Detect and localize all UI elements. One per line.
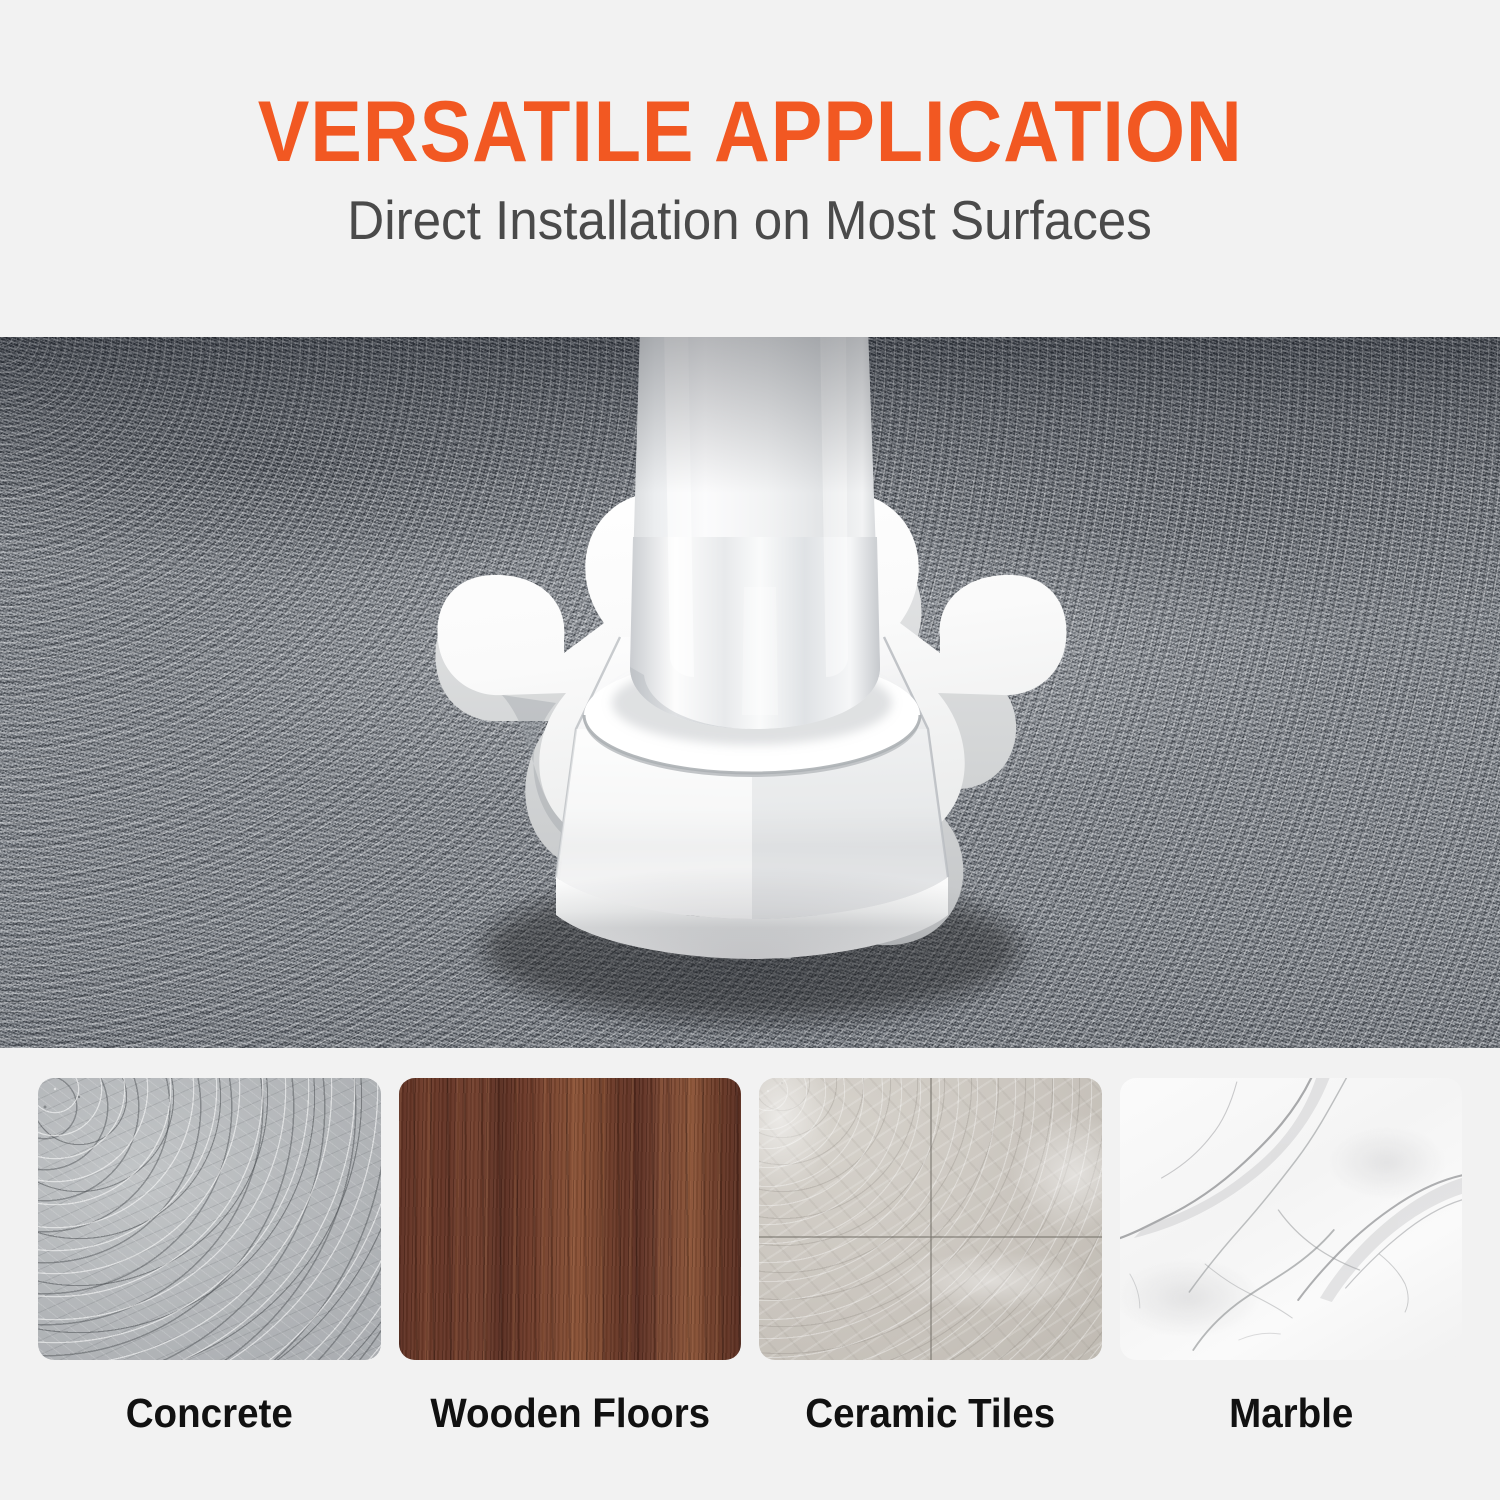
marble-veining	[1120, 1078, 1463, 1360]
label-ceramic-tiles: Ceramic Tiles	[769, 1378, 1091, 1448]
swatch-ceramic-tiles[interactable]	[759, 1078, 1102, 1360]
label-concrete: Concrete	[48, 1378, 370, 1448]
header-banner: VERSATILE APPLICATION Direct Installatio…	[0, 0, 1500, 337]
swatch-concrete[interactable]	[38, 1078, 381, 1360]
subheadline: Direct Installation on Most Surfaces	[348, 193, 1153, 248]
surface-swatch-strip: Concrete Wooden Floors Ceramic Tiles Mar…	[0, 1048, 1500, 1500]
product-illustration	[0, 337, 1500, 1048]
label-wooden-floors: Wooden Floors	[409, 1378, 731, 1448]
tile-grout-horizontal	[759, 1236, 1102, 1238]
swatch-row	[38, 1078, 1462, 1360]
headline: VERSATILE APPLICATION	[257, 89, 1242, 175]
swatch-wooden-floors[interactable]	[399, 1078, 742, 1360]
label-marble: Marble	[1130, 1378, 1452, 1448]
tile-grout-vertical	[930, 1078, 932, 1360]
swatch-marble[interactable]	[1120, 1078, 1463, 1360]
hero-product-photo	[0, 337, 1500, 1048]
swatch-label-row: Concrete Wooden Floors Ceramic Tiles Mar…	[38, 1378, 1462, 1448]
